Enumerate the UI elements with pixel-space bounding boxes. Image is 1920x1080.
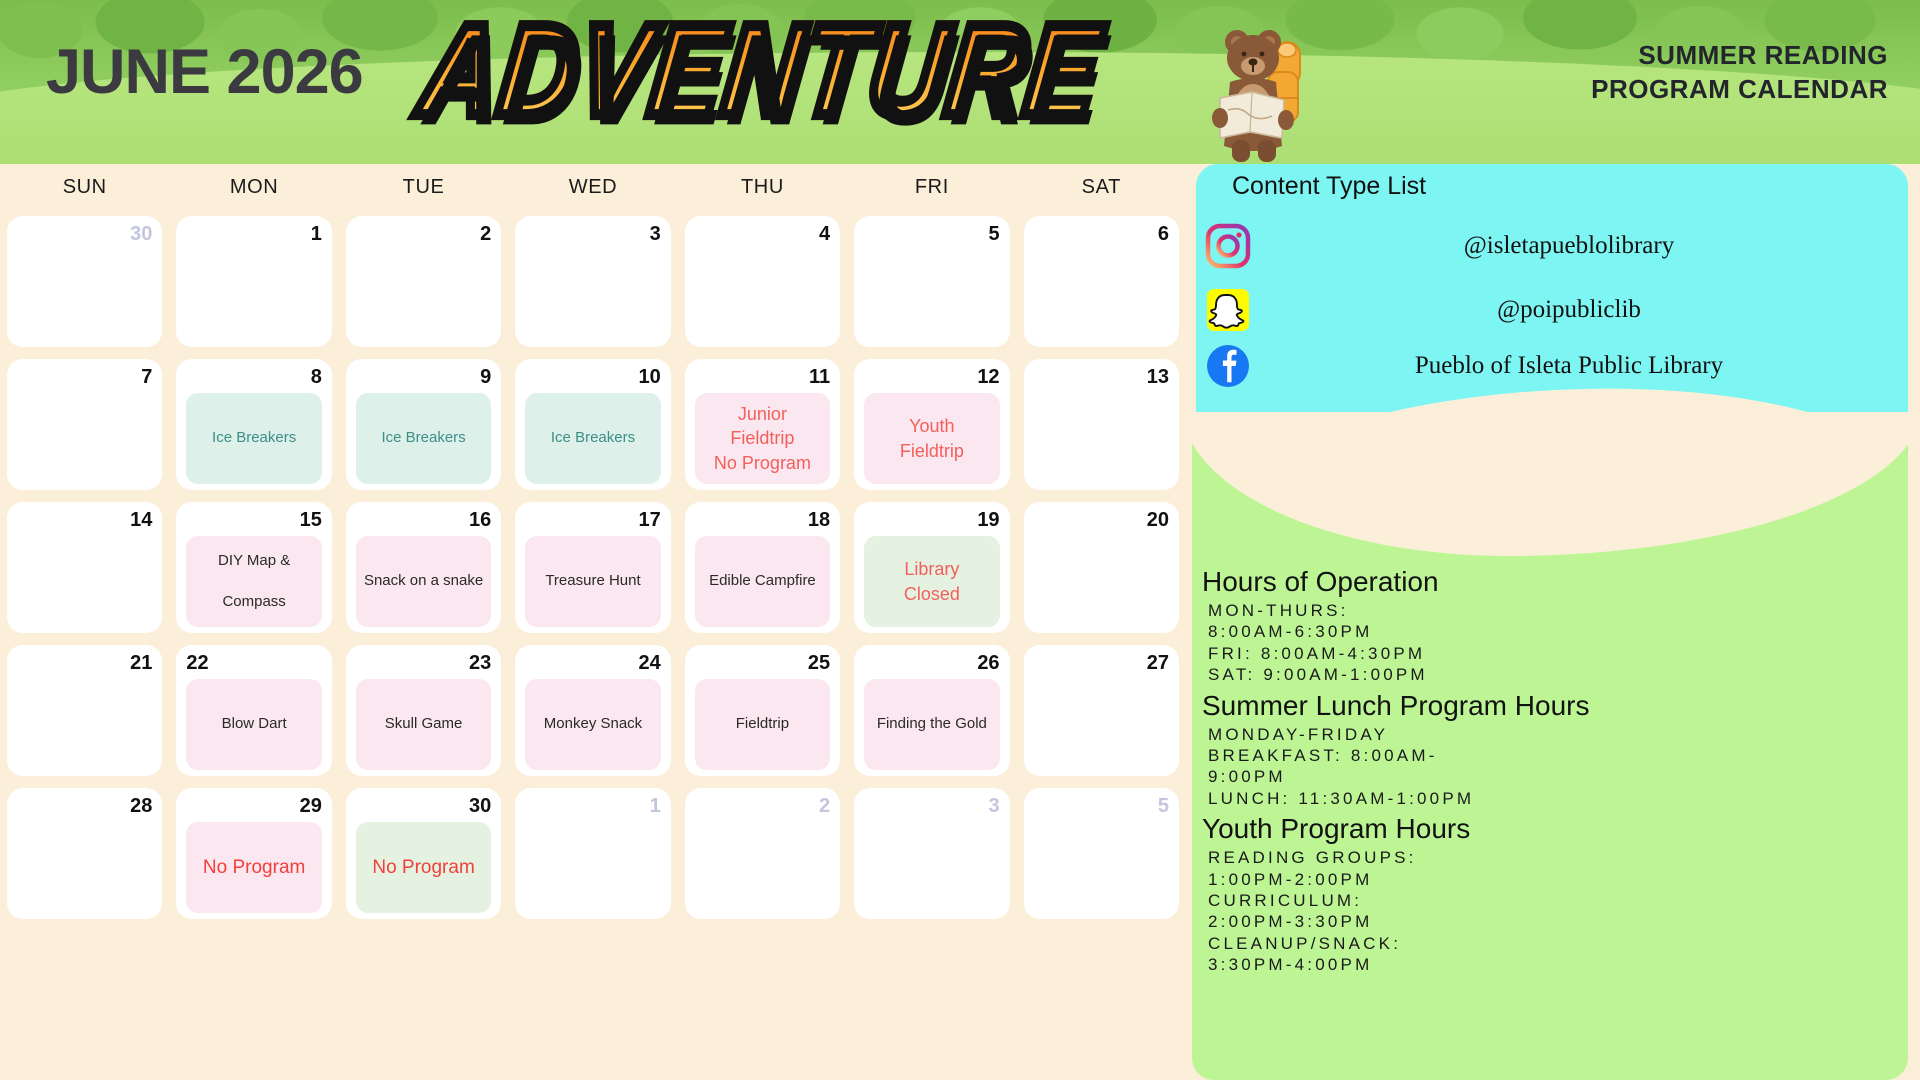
calendar-day-cell[interactable]: 23Skull Game [346,645,501,776]
day-event-chip[interactable]: LibraryClosed [864,536,999,627]
calendar-day-cell[interactable]: 3 [515,216,670,347]
right-sidebar: Content Type List @isletapueblolibrary @… [1186,164,1920,1080]
calendar-day-cell[interactable]: 2 [685,788,840,919]
calendar-week-row: 1415DIY Map &Compass16Snack on a snake17… [0,496,1186,639]
day-event-chip[interactable]: Monkey Snack [525,679,660,770]
facebook-icon[interactable] [1204,342,1252,390]
calendar-week-row: 2122Blow Dart23Skull Game24Monkey Snack2… [0,639,1186,782]
calendar-weeks: 3012345678Ice Breakers9Ice Breakers10Ice… [0,210,1186,1078]
calendar-day-cell[interactable]: 15DIY Map &Compass [176,502,331,633]
day-of-week-wed: WED [508,176,677,199]
calendar-day-cell[interactable]: 19LibraryClosed [854,502,1009,633]
day-number: 26 [977,653,999,673]
day-of-week-tue: TUE [339,176,508,199]
calendar-grid: SUNMONTUEWEDTHUFRISAT 3012345678Ice Brea… [0,164,1186,1080]
program-title-line1: SUMMER READING [1591,38,1888,72]
calendar-day-cell[interactable]: 27 [1024,645,1179,776]
hours-line: 3:30PM-4:00PM [1202,954,1902,975]
calendar-day-cell[interactable]: 5 [854,216,1009,347]
hours-wave-decoration [1192,412,1908,556]
day-event-chip[interactable]: Snack on a snake [356,536,491,627]
day-number: 5 [1158,796,1169,816]
calendar-day-cell[interactable]: 7 [7,359,162,490]
calendar-day-cell[interactable]: 14 [7,502,162,633]
day-number: 16 [469,510,491,530]
day-event-chip[interactable]: Ice Breakers [186,393,321,484]
calendar-day-cell[interactable]: 26Finding the Gold [854,645,1009,776]
social-row-facebook[interactable]: Pueblo of Isleta Public Library [1204,342,1904,390]
day-number: 4 [819,224,830,244]
day-event-chip[interactable]: Finding the Gold [864,679,999,770]
calendar-day-cell[interactable]: 8Ice Breakers [176,359,331,490]
day-event-chip[interactable]: Edible Campfire [695,536,830,627]
calendar-day-cell[interactable]: 17Treasure Hunt [515,502,670,633]
day-number: 23 [469,653,491,673]
hours-line: 8:00AM-6:30PM [1202,621,1902,642]
hours-line: FRI: 8:00AM-4:30PM [1202,643,1902,664]
calendar-week-row: 30123456 [0,210,1186,353]
calendar-day-cell[interactable]: 18Edible Campfire [685,502,840,633]
calendar-day-cell[interactable]: 10Ice Breakers [515,359,670,490]
calendar-day-cell[interactable]: 29No Program [176,788,331,919]
hours-line: CURRICULUM: [1202,890,1902,911]
calendar-day-cell[interactable]: 13 [1024,359,1179,490]
day-event-chip[interactable]: No Program [186,822,321,913]
calendar-day-cell[interactable]: 12YouthFieldtrip [854,359,1009,490]
calendar-day-cell[interactable]: 30No Program [346,788,501,919]
day-event-chip[interactable]: Skull Game [356,679,491,770]
calendar-day-cell[interactable]: 24Monkey Snack [515,645,670,776]
day-number: 28 [130,796,152,816]
day-number: 29 [300,796,322,816]
calendar-day-cell[interactable]: 28 [7,788,162,919]
hours-line: 1:00PM-2:00PM [1202,869,1902,890]
hours-line: MON-THURS: [1202,600,1902,621]
adventure-wordmark: ADVENTURE [414,6,1250,135]
day-of-week-fri: FRI [847,176,1016,199]
day-number: 6 [1158,224,1169,244]
day-number: 13 [1147,367,1169,387]
facebook-page-name[interactable]: Pueblo of Isleta Public Library [1252,352,1904,380]
day-number: 5 [988,224,999,244]
adventure-wordmark-wrap: ADVENTURE [430,6,1250,146]
day-number: 20 [1147,510,1169,530]
day-number: 19 [977,510,999,530]
content-type-list-title: Content Type List [1232,172,1426,201]
calendar-day-cell[interactable]: 6 [1024,216,1179,347]
day-number: 3 [988,796,999,816]
day-number: 30 [469,796,491,816]
day-number: 30 [130,224,152,244]
social-row-snapchat[interactable]: @poipubliclib [1204,286,1904,334]
hours-line: READING GROUPS: [1202,847,1902,868]
calendar-day-cell[interactable]: 3 [854,788,1009,919]
day-number: 2 [480,224,491,244]
day-event-chip[interactable]: No Program [356,822,491,913]
calendar-day-cell[interactable]: 30 [7,216,162,347]
day-of-week-header: SUNMONTUEWEDTHUFRISAT [0,164,1186,210]
day-event-chip[interactable]: Ice Breakers [525,393,660,484]
day-number: 22 [186,653,208,673]
hours-section-heading: Hours of Operation [1202,566,1902,598]
day-event-chip[interactable]: YouthFieldtrip [864,393,999,484]
day-of-week-sat: SAT [1017,176,1186,199]
calendar-day-cell[interactable]: 21 [7,645,162,776]
calendar-day-cell[interactable]: 9Ice Breakers [346,359,501,490]
day-of-week-sun: SUN [0,176,169,199]
hours-section-heading: Summer Lunch Program Hours [1202,690,1902,722]
hours-section-heading: Youth Program Hours [1202,813,1902,845]
month-title: JUNE 2026 [46,36,363,108]
calendar-day-cell[interactable]: 1 [176,216,331,347]
hours-line: BREAKFAST: 8:00AM- [1202,745,1902,766]
calendar-week-row: 2829No Program30No Program1235 [0,782,1186,925]
day-number: 14 [130,510,152,530]
day-number: 18 [808,510,830,530]
day-event-chip[interactable]: Ice Breakers [356,393,491,484]
social-row-instagram[interactable]: @isletapueblolibrary [1204,222,1904,270]
calendar-day-cell[interactable]: 20 [1024,502,1179,633]
hours-line: CLEANUP/SNACK: [1202,933,1902,954]
day-of-week-thu: THU [678,176,847,199]
day-event-chip[interactable]: DIY Map &Compass [186,536,321,627]
calendar-day-cell[interactable]: 5 [1024,788,1179,919]
day-number: 24 [638,653,660,673]
hours-line: 2:00PM-3:30PM [1202,911,1902,932]
day-of-week-mon: MON [169,176,338,199]
day-number: 1 [650,796,661,816]
day-number: 10 [638,367,660,387]
hours-panel: Hours of OperationMON-THURS:8:00AM-6:30P… [1192,412,1908,1080]
calendar-day-cell[interactable]: 4 [685,216,840,347]
program-title-line2: PROGRAM CALENDAR [1591,72,1888,106]
day-number: 12 [977,367,999,387]
day-number: 25 [808,653,830,673]
day-number: 8 [311,367,322,387]
hours-sections: Hours of OperationMON-THURS:8:00AM-6:30P… [1202,562,1902,976]
day-event-chip[interactable]: Fieldtrip [695,679,830,770]
calendar-week-row: 78Ice Breakers9Ice Breakers10Ice Breaker… [0,353,1186,496]
hours-line: LUNCH: 11:30AM-1:00PM [1202,788,1902,809]
program-title: SUMMER READING PROGRAM CALENDAR [1591,38,1888,107]
hours-line: SAT: 9:00AM-1:00PM [1202,664,1902,685]
day-event-chip[interactable]: Treasure Hunt [525,536,660,627]
bear-with-map-icon [1190,14,1330,164]
calendar-day-cell[interactable]: 22Blow Dart [176,645,331,776]
page-header: JUNE 2026 ADVENTURE [0,0,1920,164]
day-event-chip[interactable]: JuniorFieldtripNo Program [695,393,830,484]
calendar-day-cell[interactable]: 16Snack on a snake [346,502,501,633]
day-number: 1 [311,224,322,244]
instagram-handle[interactable]: @isletapueblolibrary [1252,232,1904,260]
day-number: 11 [809,367,830,387]
day-number: 15 [300,510,322,530]
calendar-day-cell[interactable]: 25Fieldtrip [685,645,840,776]
snapchat-icon[interactable] [1204,286,1252,334]
day-number: 7 [141,367,152,387]
instagram-icon[interactable] [1204,222,1252,270]
day-number: 21 [130,653,152,673]
day-event-chip[interactable]: Blow Dart [186,679,321,770]
calendar-day-cell[interactable]: 11JuniorFieldtripNo Program [685,359,840,490]
calendar-day-cell[interactable]: 1 [515,788,670,919]
hours-line: MONDAY-FRIDAY [1202,724,1902,745]
day-number: 3 [650,224,661,244]
day-number: 9 [480,367,491,387]
content-type-list-panel: Content Type List @isletapueblolibrary @… [1196,164,1908,442]
calendar-day-cell[interactable]: 2 [346,216,501,347]
day-number: 17 [638,510,660,530]
snapchat-handle[interactable]: @poipubliclib [1252,296,1904,324]
day-number: 27 [1147,653,1169,673]
hours-line: 9:00PM [1202,766,1902,787]
day-number: 2 [819,796,830,816]
